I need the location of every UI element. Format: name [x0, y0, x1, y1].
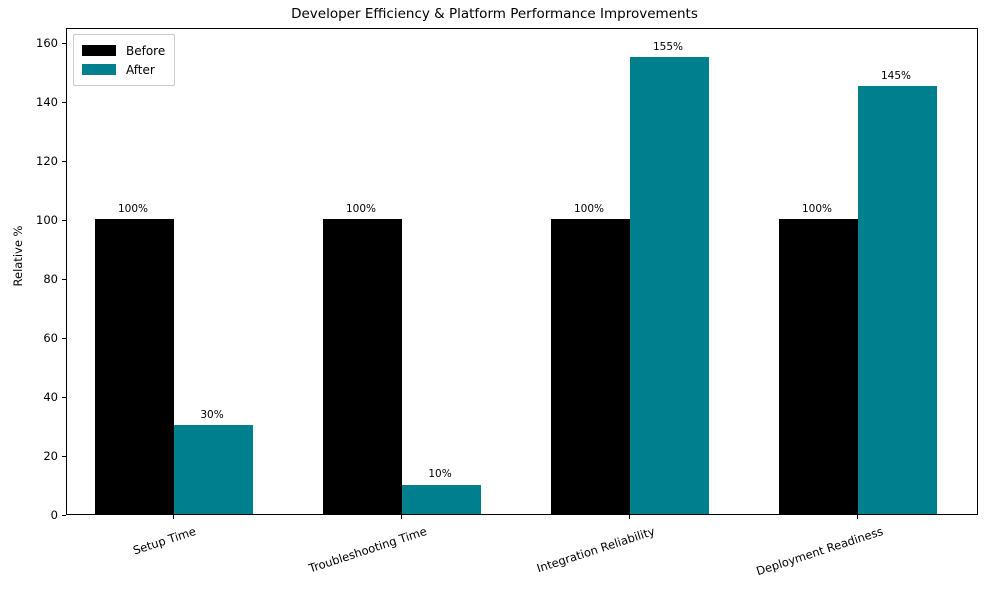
- bar-before: [551, 219, 630, 514]
- bar-value-label: 100%: [802, 203, 832, 215]
- x-axis-tick-mark: [173, 515, 174, 519]
- legend-item-before: Before: [82, 41, 165, 60]
- y-axis-tick-mark: [62, 43, 66, 44]
- y-axis-tick-mark: [62, 515, 66, 516]
- y-axis-tick-label: 20: [43, 449, 58, 463]
- y-axis-tick-mark: [62, 279, 66, 280]
- x-axis-tick-label: Setup Time: [131, 524, 197, 557]
- chart-figure: Developer Efficiency & Platform Performa…: [0, 0, 989, 590]
- chart-legend: Before After: [73, 34, 175, 86]
- y-axis-tick-label: 60: [43, 331, 58, 345]
- x-axis-tick-mark: [629, 515, 630, 519]
- y-axis-tick-mark: [62, 456, 66, 457]
- bar-value-label: 100%: [574, 203, 604, 215]
- x-axis-tick-label: Troubleshooting Time: [307, 524, 428, 575]
- bar-value-label: 155%: [653, 41, 683, 53]
- y-axis-tick-label: 80: [43, 272, 58, 286]
- y-axis-tick-labels: 020406080100120140160: [0, 0, 58, 590]
- x-axis-tick-mark: [401, 515, 402, 519]
- bar-before: [779, 219, 858, 514]
- bar-after: [858, 86, 937, 514]
- plot-area: [66, 28, 978, 515]
- x-axis-tick-label: Integration Reliability: [535, 524, 657, 575]
- bar-after: [630, 57, 709, 514]
- legend-label-after: After: [126, 63, 155, 77]
- y-axis-tick-mark: [62, 338, 66, 339]
- y-axis-tick-label: 160: [36, 36, 58, 50]
- bar-before: [323, 219, 402, 514]
- legend-swatch-after: [82, 64, 116, 75]
- bar-after: [174, 425, 253, 514]
- y-axis-tick-label: 40: [43, 390, 58, 404]
- chart-title: Developer Efficiency & Platform Performa…: [0, 6, 989, 22]
- x-axis-tick-label: Deployment Readiness: [755, 524, 885, 578]
- legend-swatch-before: [82, 45, 116, 56]
- bar-after: [402, 485, 481, 515]
- y-axis-tick-label: 120: [36, 154, 58, 168]
- y-axis-tick-label: 100: [36, 213, 58, 227]
- bar-value-label: 100%: [118, 203, 148, 215]
- y-axis-tick-mark: [62, 161, 66, 162]
- y-axis-tick-mark: [62, 102, 66, 103]
- bar-value-label: 30%: [200, 409, 223, 421]
- y-axis-tick-mark: [62, 220, 66, 221]
- y-axis-tick-mark: [62, 397, 66, 398]
- legend-label-before: Before: [126, 44, 165, 58]
- bar-value-label: 100%: [346, 203, 376, 215]
- legend-item-after: After: [82, 60, 165, 79]
- bar-value-label: 10%: [428, 468, 451, 480]
- x-axis-tick-mark: [857, 515, 858, 519]
- bar-before: [95, 219, 174, 514]
- bar-value-label: 145%: [881, 70, 911, 82]
- y-axis-tick-label: 140: [36, 95, 58, 109]
- y-axis-tick-label: 0: [51, 508, 58, 522]
